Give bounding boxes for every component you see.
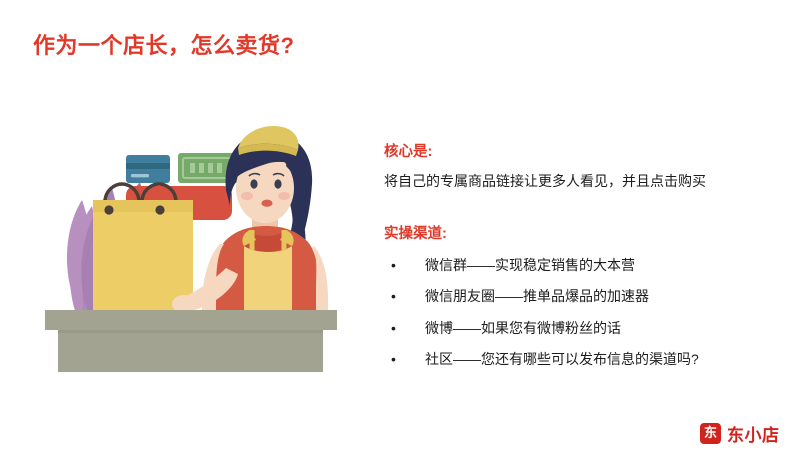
shopping-bag-graphic <box>93 184 193 316</box>
core-section-body: 将自己的专属商品链接让更多人看见，并且点击购买 <box>384 171 784 193</box>
list-item-label: 微博——如果您有微博粉丝的话 <box>425 320 621 336</box>
list-item: • 社区——您还有哪些可以发布信息的渠道吗? <box>384 349 784 369</box>
dongxiaodian-logo-icon: 东 <box>700 423 721 444</box>
bullet-marker-icon: • <box>391 255 396 275</box>
shopkeeper-illustration <box>30 118 350 373</box>
page-title: 作为一个店长，怎么卖货? <box>33 28 294 60</box>
channels-section-heading: 实操渠道: <box>384 224 784 246</box>
brand-logo: 东 东小店 <box>700 421 780 446</box>
credit-card-icon <box>126 155 170 183</box>
list-item-label: 微信群——实现稳定销售的大本营 <box>425 257 635 273</box>
list-item-label: 微信朋友圈——推单品爆品的加速器 <box>425 288 649 304</box>
slide-canvas: 作为一个店长，怎么卖货? <box>0 0 809 467</box>
list-item: • 微信朋友圈——推单品爆品的加速器 <box>384 286 784 306</box>
counter-graphic <box>45 310 337 372</box>
bullet-marker-icon: • <box>391 286 396 306</box>
channels-list: • 微信群——实现稳定销售的大本营 • 微信朋友圈——推单品爆品的加速器 • 微… <box>384 255 784 369</box>
section-spacer <box>384 192 784 224</box>
list-item: • 微信群——实现稳定销售的大本营 <box>384 255 784 275</box>
content-column: 核心是: 将自己的专属商品链接让更多人看见，并且点击购买 实操渠道: • 微信群… <box>384 142 784 380</box>
bullet-marker-icon: • <box>391 318 396 338</box>
brand-name-label: 东小店 <box>727 421 780 446</box>
core-section-heading: 核心是: <box>384 142 784 164</box>
bullet-marker-icon: • <box>391 349 396 369</box>
list-item-label: 社区——您还有哪些可以发布信息的渠道吗? <box>425 351 699 367</box>
list-item: • 微博——如果您有微博粉丝的话 <box>384 318 784 338</box>
